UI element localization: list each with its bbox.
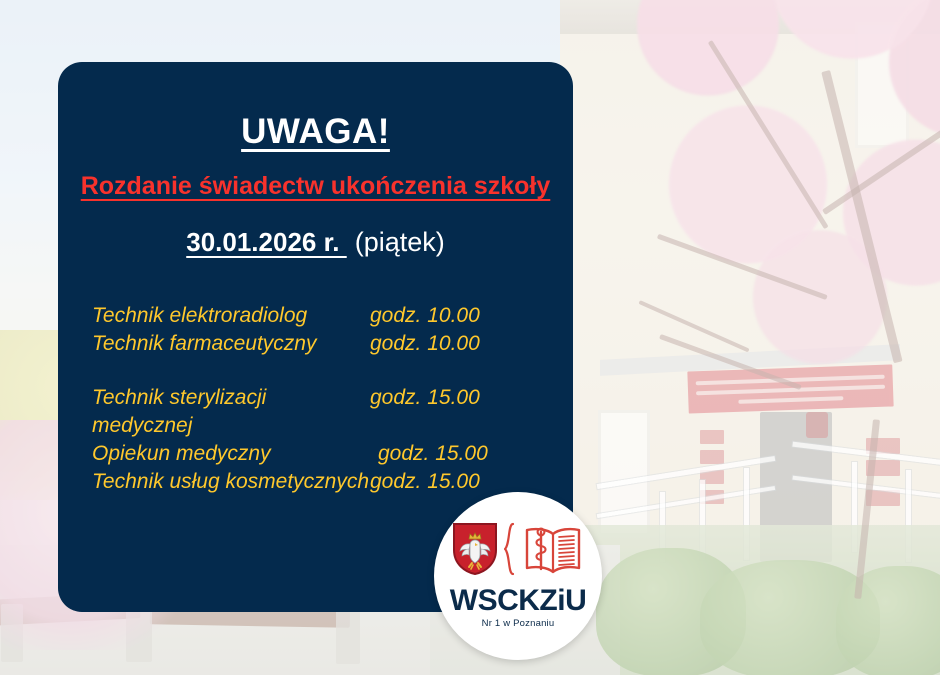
schedule-group-afternoon: Technik sterylizacji medycznej godz. 15.…	[92, 384, 553, 496]
program-name: Technik usług kosmetycznych	[92, 468, 370, 496]
logo-wordmark: WSCKZiU	[434, 584, 602, 618]
school-logo-badge: WSCKZiU Nr 1 w Poznaniu	[434, 492, 602, 660]
event-date-row: 30.01.2026 r. (piątek)	[58, 227, 573, 258]
announcement-subtitle: Rozdanie świadectw ukończenia szkoły	[58, 172, 573, 201]
logo-emblem-group	[434, 522, 602, 580]
event-weekday: (piątek)	[355, 227, 445, 257]
program-time: godz. 10.00	[370, 302, 553, 330]
schedule-row: Technik sterylizacji medycznej godz. 15.…	[92, 384, 553, 440]
program-time: godz. 15.00	[370, 384, 553, 440]
event-date: 30.01.2026 r.	[186, 227, 346, 257]
program-name: Technik elektroradiolog	[92, 302, 370, 330]
open-book-caduceus-icon	[522, 522, 584, 581]
schedule-row: Opiekun medyczny godz. 15.00	[92, 440, 553, 468]
bracket-icon	[504, 522, 516, 581]
poznan-coat-of-arms-icon	[452, 522, 498, 581]
schedule-group-morning: Technik elektroradiolog godz. 10.00 Tech…	[92, 302, 553, 358]
program-time: godz. 15.00	[370, 440, 553, 468]
program-time: godz. 10.00	[370, 330, 553, 358]
schedule-list: Technik elektroradiolog godz. 10.00 Tech…	[92, 302, 553, 522]
logo-tagline: Nr 1 w Poznaniu	[434, 618, 602, 629]
program-name: Technik farmaceutyczny	[92, 330, 370, 358]
page-title: UWAGA!	[58, 112, 573, 152]
poster-canvas: UWAGA! Rozdanie świadectw ukończenia szk…	[0, 0, 940, 675]
program-name: Technik sterylizacji medycznej	[92, 384, 370, 440]
schedule-row: Technik farmaceutyczny godz. 10.00	[92, 330, 553, 358]
schedule-row: Technik usług kosmetycznych godz. 15.00	[92, 468, 553, 496]
schedule-row: Technik elektroradiolog godz. 10.00	[92, 302, 553, 330]
program-name: Opiekun medyczny	[92, 440, 370, 468]
